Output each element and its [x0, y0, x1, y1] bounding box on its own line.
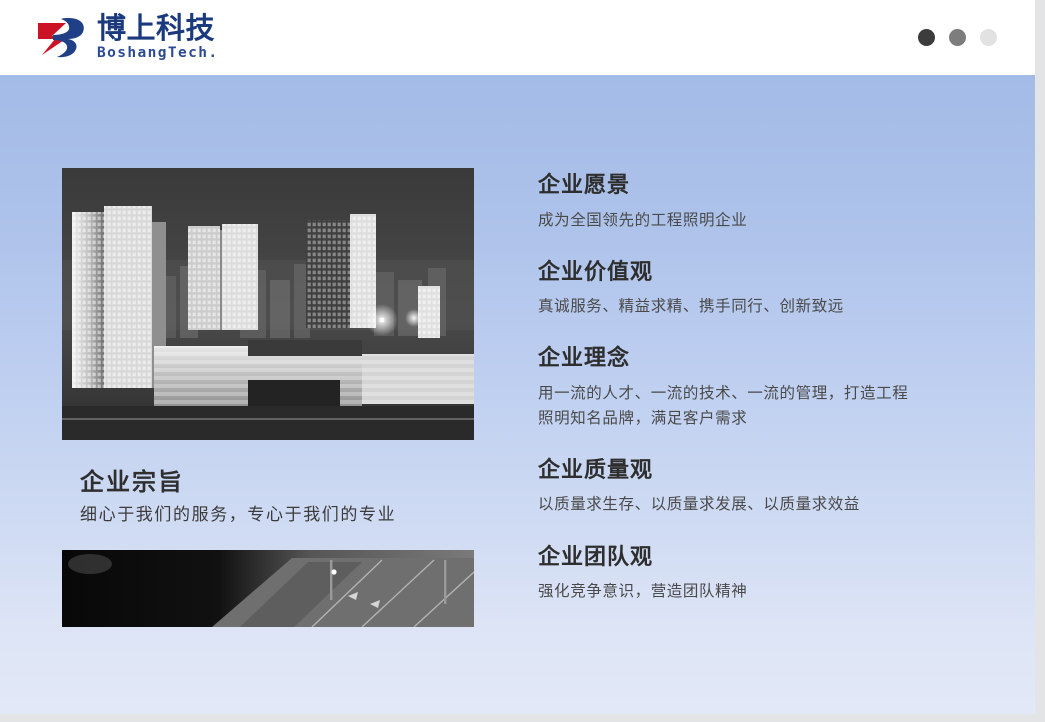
road-night-photo-graphic [62, 550, 474, 627]
vertical-scrollbar[interactable] [1035, 0, 1045, 714]
logo-english-name: BoshangTech. [97, 46, 219, 61]
site-header: 博上科技 BoshangTech. [0, 0, 1035, 75]
culture-title-quality: 企业质量观 [538, 457, 938, 485]
carousel-dot-2[interactable] [949, 29, 966, 46]
site-logo[interactable]: 博上科技 BoshangTech. [36, 14, 219, 60]
culture-item-values: 企业价值观 真诚服务、精益求精、携手同行、创新致远 [538, 259, 938, 320]
city-night-photo-graphic [62, 168, 474, 440]
culture-item-vision: 企业愿景 成为全国领先的工程照明企业 [538, 172, 938, 233]
culture-text-quality: 以质量求生存、以质量求发展、以质量求效益 [538, 492, 910, 517]
purpose-text: 细心于我们的服务，专心于我们的专业 [80, 504, 474, 528]
carousel-dot-3[interactable] [980, 29, 997, 46]
culture-title-values: 企业价值观 [538, 259, 938, 287]
right-column: 企业愿景 成为全国领先的工程照明企业 企业价值观 真诚服务、精益求精、携手同行、… [538, 172, 938, 604]
horizontal-scrollbar[interactable] [0, 714, 1045, 722]
road-night-photo [62, 550, 474, 627]
culture-text-team: 强化竞争意识，营造团队精神 [538, 579, 910, 604]
logo-wordmark: 博上科技 BoshangTech. [97, 14, 219, 60]
carousel-indicators [918, 29, 997, 46]
culture-text-vision: 成为全国领先的工程照明企业 [538, 208, 910, 233]
carousel-dot-1[interactable] [918, 29, 935, 46]
content-grid: 企业宗旨 细心于我们的服务，专心于我们的专业 [0, 75, 1035, 714]
culture-title-philosophy: 企业理念 [538, 345, 938, 373]
content-stage: 企业宗旨 细心于我们的服务，专心于我们的专业 [0, 75, 1035, 714]
left-column: 企业宗旨 细心于我们的服务，专心于我们的专业 [62, 168, 474, 627]
purpose-title: 企业宗旨 [80, 466, 474, 497]
logo-chinese-name: 博上科技 [97, 14, 219, 44]
culture-item-quality: 企业质量观 以质量求生存、以质量求发展、以质量求效益 [538, 457, 938, 518]
culture-item-philosophy: 企业理念 用一流的人才、一流的技术、一流的管理，打造工程照明知名品牌，满足客户需… [538, 345, 938, 431]
culture-text-values: 真诚服务、精益求精、携手同行、创新致远 [538, 294, 910, 319]
culture-text-philosophy: 用一流的人才、一流的技术、一流的管理，打造工程照明知名品牌，满足客户需求 [538, 381, 910, 431]
culture-title-team: 企业团队观 [538, 544, 938, 572]
culture-title-vision: 企业愿景 [538, 172, 938, 200]
city-night-photo [62, 168, 474, 440]
boshang-logo-icon [36, 14, 88, 60]
page-viewport: 博上科技 BoshangTech. [0, 0, 1045, 722]
purpose-block: 企业宗旨 细心于我们的服务，专心于我们的专业 [62, 466, 474, 528]
culture-item-team: 企业团队观 强化竞争意识，营造团队精神 [538, 544, 938, 605]
